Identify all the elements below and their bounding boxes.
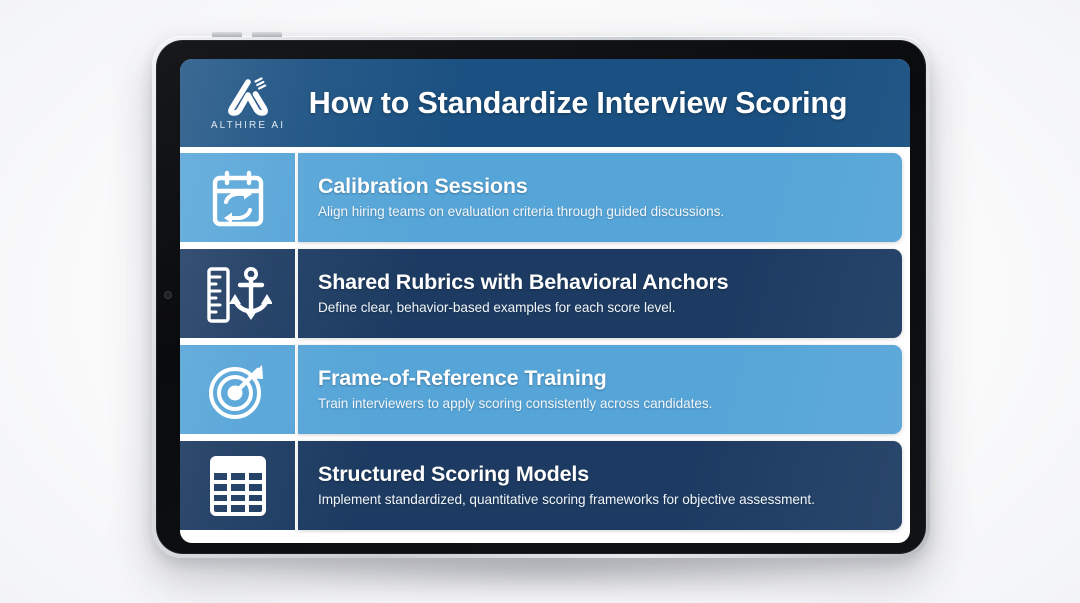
althire-a-logo-icon [222, 75, 274, 117]
list-item-description: Implement standardized, quantitative sco… [318, 492, 886, 509]
target-arrow-icon [207, 359, 269, 421]
volume-down-button[interactable] [252, 32, 282, 37]
list-item-text-cell: Shared Rubrics with Behavioral Anchors D… [298, 249, 902, 338]
volume-up-button[interactable] [212, 32, 242, 37]
list-item[interactable]: Shared Rubrics with Behavioral Anchors D… [180, 249, 902, 338]
page-title: How to Standardize Interview Scoring [296, 86, 894, 121]
list-item-icon-cell [180, 345, 298, 434]
tablet-bezel: ALTHIRE AI How to Standardize Interview … [156, 40, 926, 554]
screenshot-stage: ALTHIRE AI How to Standardize Interview … [0, 0, 1080, 603]
list-item-text-cell: Frame-of-Reference Training Train interv… [298, 345, 902, 434]
list-item-title: Shared Rubrics with Behavioral Anchors [318, 270, 886, 295]
list-item[interactable]: Calibration Sessions Align hiring teams … [180, 153, 902, 242]
list-item-text-cell: Calibration Sessions Align hiring teams … [298, 153, 902, 242]
list-item-text-cell: Structured Scoring Models Implement stan… [298, 441, 902, 530]
list-item-title: Frame-of-Reference Training [318, 366, 886, 391]
feature-list: Calibration Sessions Align hiring teams … [180, 147, 910, 538]
list-item-icon-cell [180, 249, 298, 338]
list-item-title: Structured Scoring Models [318, 462, 886, 487]
ruler-anchor-icon [204, 264, 272, 324]
front-camera-icon [165, 292, 171, 298]
list-item-title: Calibration Sessions [318, 174, 886, 199]
table-grid-icon [209, 455, 267, 517]
calendar-refresh-icon [210, 169, 266, 227]
list-item-description: Train interviewers to apply scoring cons… [318, 396, 886, 413]
list-item-icon-cell [180, 153, 298, 242]
list-item-description: Align hiring teams on evaluation criteri… [318, 204, 886, 221]
brand-logo: ALTHIRE AI [200, 75, 296, 131]
list-item-description: Define clear, behavior-based examples fo… [318, 300, 886, 317]
tablet-screen: ALTHIRE AI How to Standardize Interview … [180, 59, 910, 543]
brand-name-label: ALTHIRE AI [211, 120, 285, 131]
list-item[interactable]: Structured Scoring Models Implement stan… [180, 441, 902, 530]
list-item[interactable]: Frame-of-Reference Training Train interv… [180, 345, 902, 434]
list-item-icon-cell [180, 441, 298, 530]
tablet-device: ALTHIRE AI How to Standardize Interview … [152, 36, 930, 558]
page-header: ALTHIRE AI How to Standardize Interview … [180, 59, 910, 147]
